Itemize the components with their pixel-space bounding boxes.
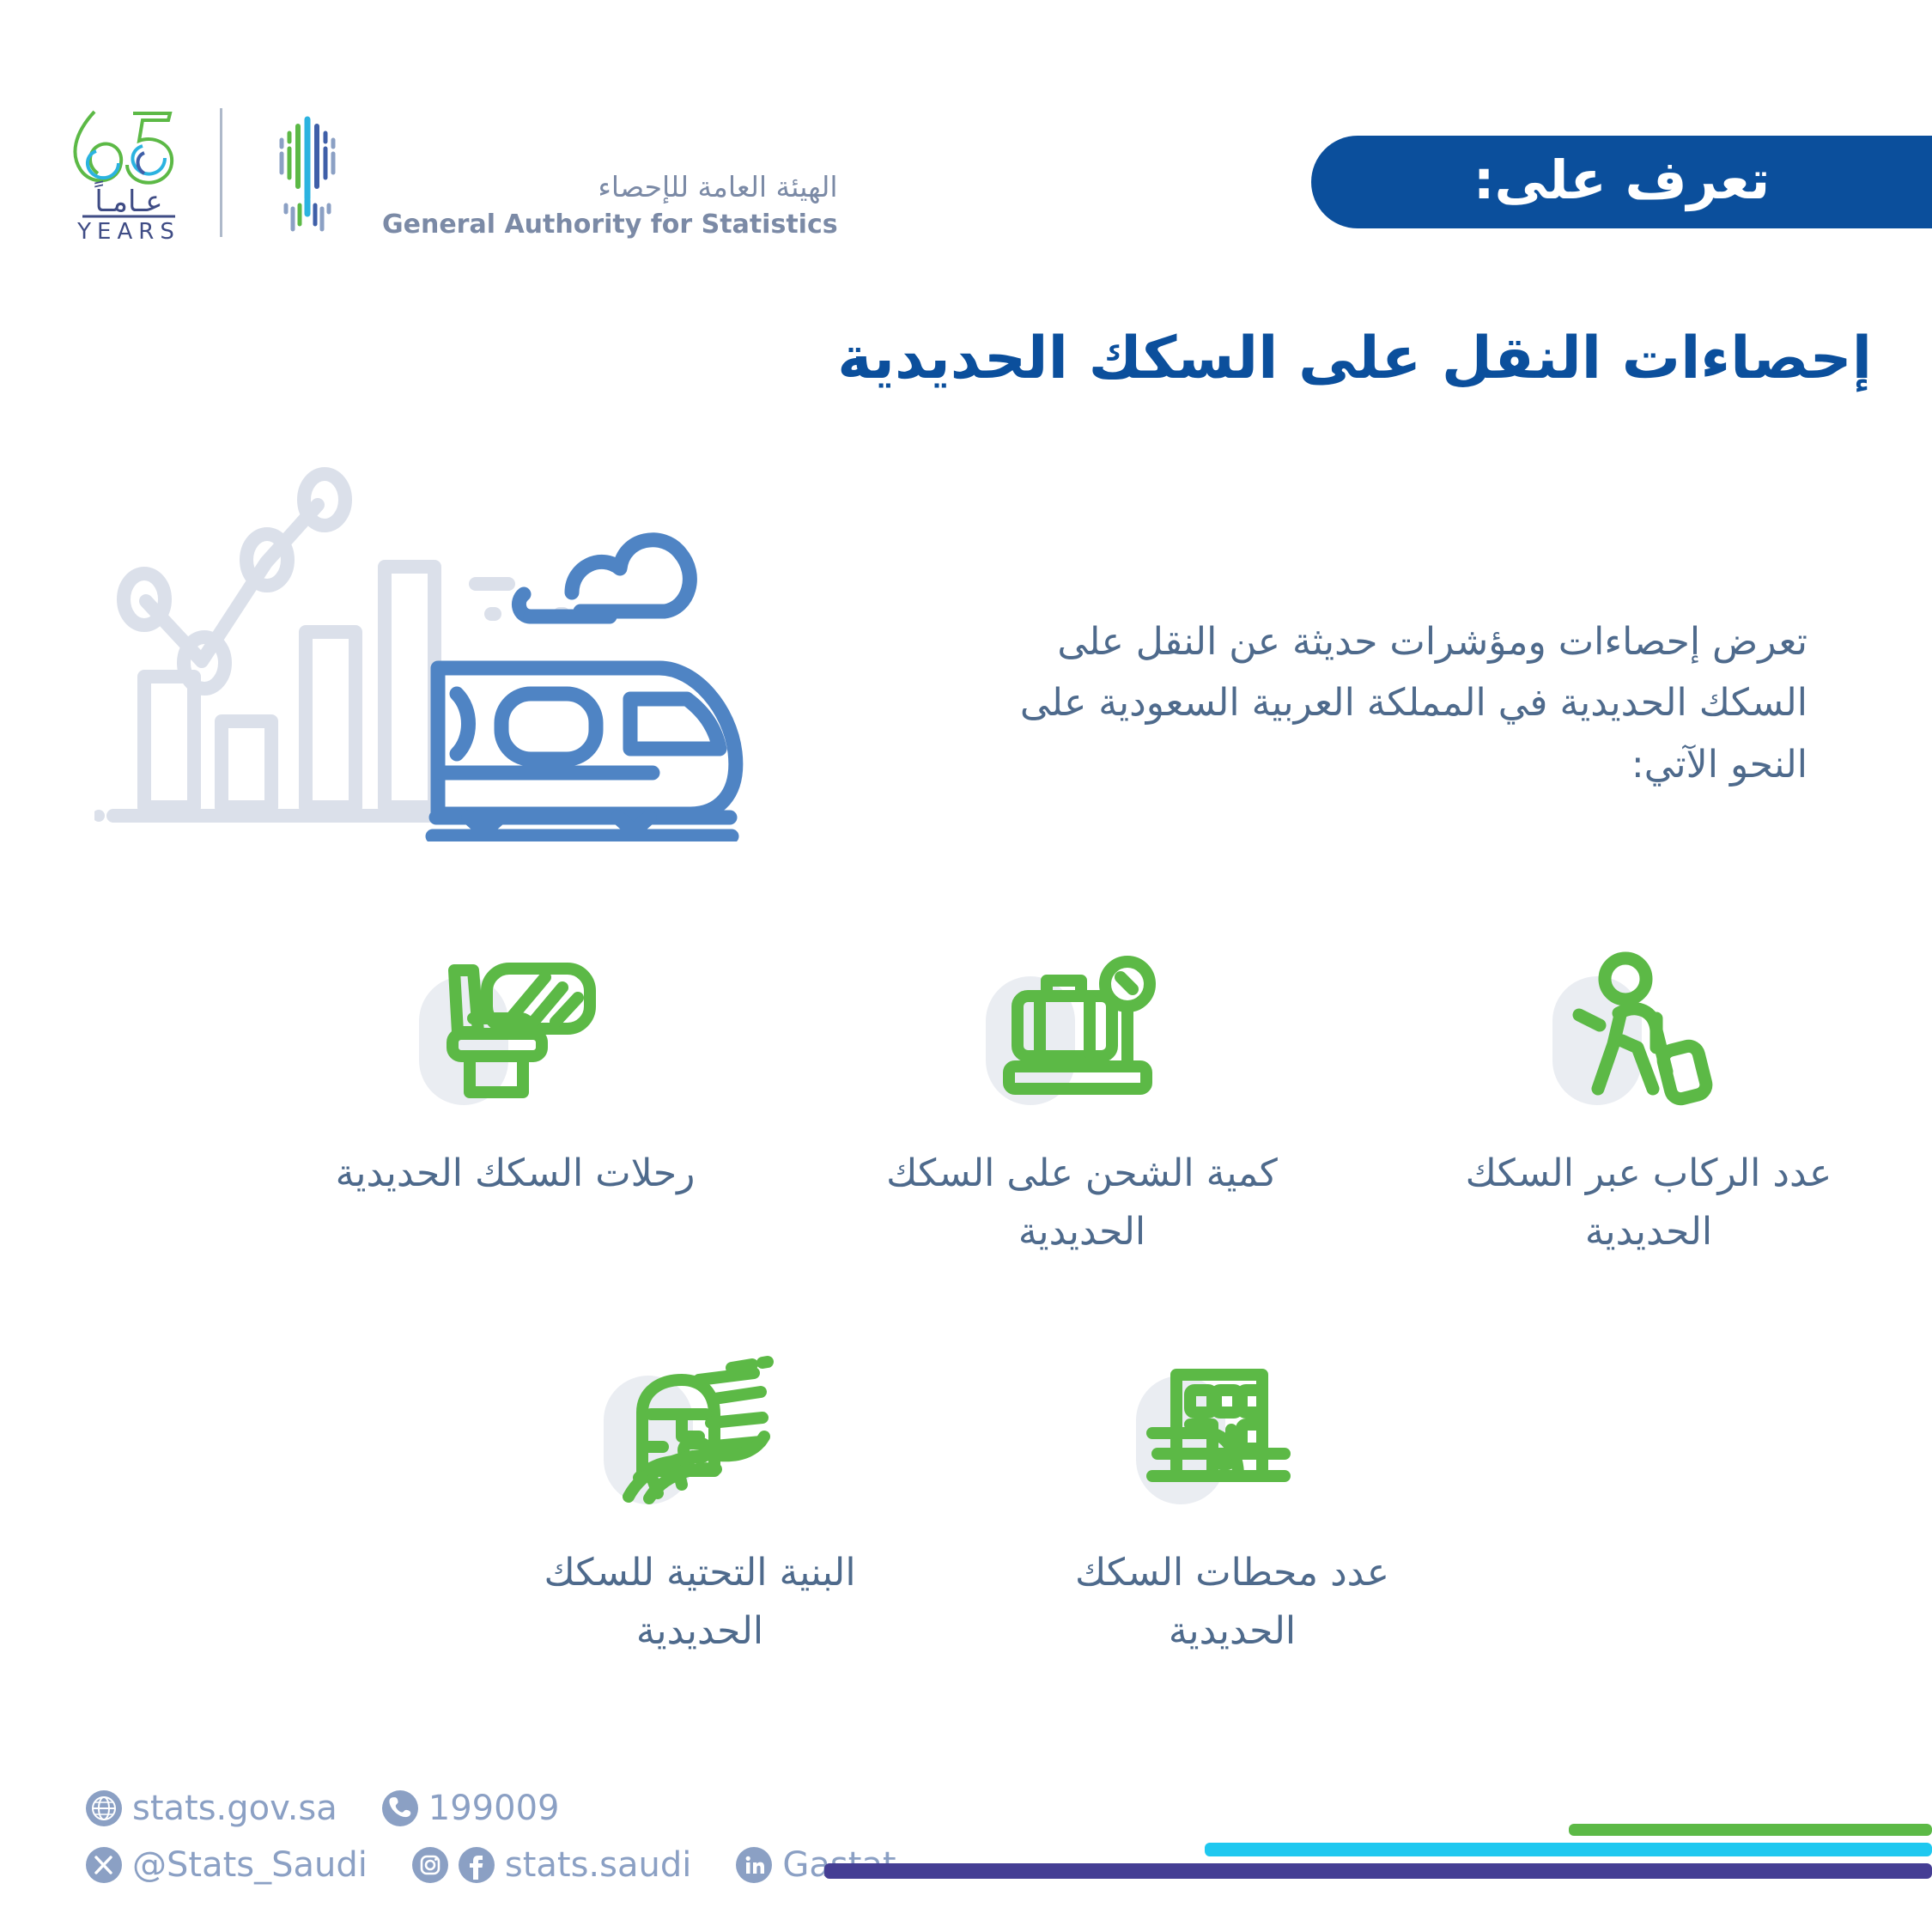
stat-card-infrastructure[interactable]: البنية التحتية للسكك الحديدية <box>434 1340 966 1661</box>
train-seat-window-icon <box>386 940 644 1121</box>
banner-label: تعرف على: <box>1473 149 1771 216</box>
stat-card-label: البنية التحتية للسكك الحديدية <box>502 1544 897 1661</box>
facebook-icon <box>459 1847 495 1883</box>
stat-card-freight[interactable]: كمية الشحن على السكك الحديدية <box>799 940 1365 1261</box>
stat-card-trips[interactable]: رحلات السكك الحديدية <box>232 940 799 1261</box>
decorative-bar-green <box>1569 1824 1932 1836</box>
org-name-arabic: الهيئة العامة للإحصاء <box>382 170 838 204</box>
brand-logo-block: عـامـاً YEARS <box>69 101 838 243</box>
footer-x-text: @Stats_Saudi <box>132 1845 368 1885</box>
linkedin-icon <box>736 1847 772 1883</box>
gastat-symbol-icon <box>257 104 360 241</box>
gastat-wordmark: الهيئة العامة للإحصاء General Authority … <box>382 102 838 243</box>
logo-divider <box>220 108 222 237</box>
footer-x-twitter[interactable]: @Stats_Saudi <box>86 1845 368 1885</box>
footer-phone[interactable]: 199009 <box>382 1789 560 1828</box>
stat-card-label: كمية الشحن على السكك الحديدية <box>884 1145 1279 1261</box>
intro-paragraph: تعرض إحصاءات ومؤشرات حديثة عن النقل على … <box>970 611 1807 795</box>
stat-card-stations[interactable]: عدد محطات السكك الحديدية <box>966 1340 1498 1661</box>
stat-card-label: رحلات السكك الحديدية <box>336 1145 696 1203</box>
svg-text:عـامـاً: عـامـاً <box>94 180 163 219</box>
footer-social-text: stats.saudi <box>505 1845 691 1885</box>
instagram-icon <box>412 1847 448 1883</box>
phone-icon <box>382 1790 418 1826</box>
learn-about-banner: تعرف على: <box>1311 136 1932 228</box>
footer-row-one: stats.gov.sa 199009 <box>86 1786 941 1831</box>
decorative-bar-purple <box>824 1863 1932 1879</box>
page-title: إحصاءات النقل على السكك الحديدية <box>0 325 1872 392</box>
x-twitter-icon <box>86 1847 122 1883</box>
stats-card-row-two: عدد محطات السكك الحديدية <box>0 1340 1932 1661</box>
svg-text:YEARS: YEARS <box>76 219 180 243</box>
passenger-with-luggage-icon <box>1520 940 1777 1121</box>
stats-card-row-one: عدد الركاب عبر السكك الحديدية كمية الشحن… <box>0 940 1932 1261</box>
footer-phone-text: 199009 <box>428 1789 560 1828</box>
footer-row-two: @Stats_Saudi stats.saudi <box>86 1843 941 1887</box>
train-on-tracks-icon <box>571 1340 829 1520</box>
stat-card-label: عدد محطات السكك الحديدية <box>1035 1544 1430 1661</box>
org-name-english: General Authority for Statistics <box>382 210 838 240</box>
stat-card-passengers[interactable]: عدد الركاب عبر السكك الحديدية <box>1365 940 1932 1261</box>
footer-website-text: stats.gov.sa <box>132 1789 337 1828</box>
train-station-building-icon <box>1103 1340 1361 1520</box>
stat-card-label: عدد الركاب عبر السكك الحديدية <box>1451 1145 1846 1261</box>
footer-social-handle[interactable]: stats.saudi <box>412 1845 691 1885</box>
cargo-scale-icon <box>953 940 1211 1121</box>
footer-contact-block: stats.gov.sa 199009 @Stats_Saudi <box>86 1786 941 1899</box>
anniversary-65-years-logo: عـامـاً YEARS <box>69 101 189 243</box>
hero-chart-train-illustration <box>94 464 850 841</box>
globe-icon <box>86 1790 122 1826</box>
footer-website[interactable]: stats.gov.sa <box>86 1789 337 1828</box>
decorative-bar-cyan <box>1205 1843 1932 1856</box>
